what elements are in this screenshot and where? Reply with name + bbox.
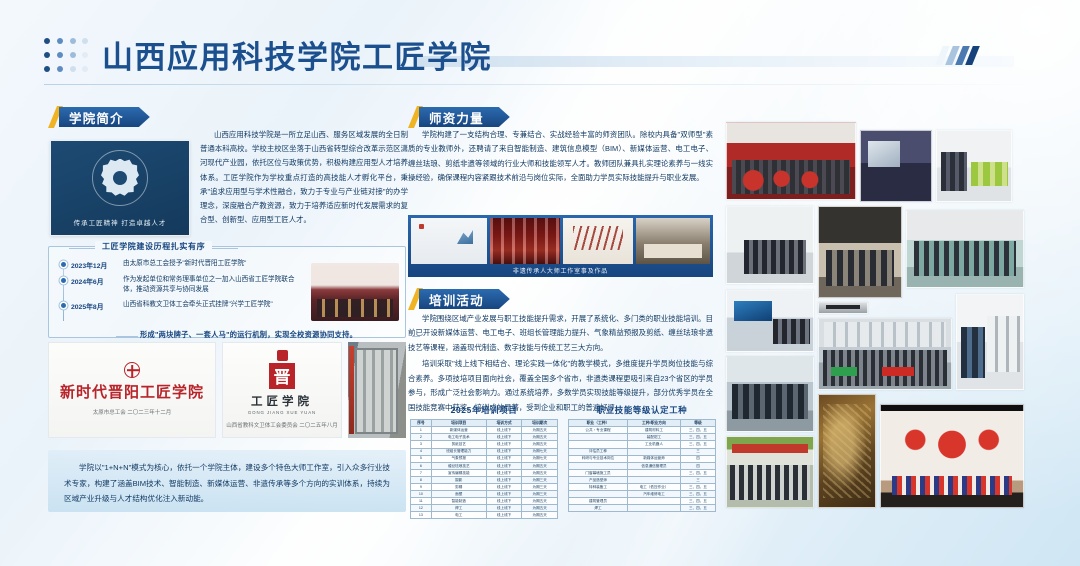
timeline-item: 2023年12月 由太原市总工会授予"新时代晋阳工匠学院" xyxy=(55,259,305,270)
table-cell: 6 xyxy=(411,462,432,469)
table-cell: 2 xyxy=(411,434,432,441)
table-cell: 三、四、五 xyxy=(680,483,715,490)
table-cell: 汽车维修电工 xyxy=(627,491,680,498)
dancers-row xyxy=(892,476,1011,494)
table-row: 汽车维修电工三、四、五 xyxy=(569,491,716,498)
section-heading-training: 培训活动 xyxy=(408,288,510,310)
table-cell: 公共・专业课程 xyxy=(569,427,628,434)
table-row: 科研与专业技术岗位新媒体运营师四 xyxy=(569,455,716,462)
training-projects-table-block: 2025年培训项目 序号培训项目培训方式培训期次 1新媒体运营线上线下为期五天2… xyxy=(410,404,558,519)
table-row: 5气象预报线上线下为期七天 xyxy=(411,455,558,462)
table-cell: 线上线下 xyxy=(486,469,522,476)
classroom-lecture-screen xyxy=(860,130,932,202)
table-row: 9剪辑线上线下为期三天 xyxy=(411,483,558,490)
table-cell: 线上线下 xyxy=(486,448,522,455)
table-cell: 剪纸技艺 xyxy=(431,441,486,448)
table-row: 信息通信管理员四 xyxy=(569,462,716,469)
table-cell: 三、四、五 xyxy=(680,427,715,434)
furniture-hall-visit xyxy=(906,210,1024,288)
plaque-title: 工匠学院 xyxy=(251,393,313,409)
page-title: 山西应用科技学院工匠学院 xyxy=(102,32,492,77)
table-cell: 三 xyxy=(680,476,715,483)
table-column-header: 培训方式 xyxy=(486,420,522,427)
table-cell: 线上线下 xyxy=(486,476,522,483)
campus-building xyxy=(824,322,945,347)
table-cell: 线上线下 xyxy=(486,483,522,490)
training-table-caption: 2025年培训项目 xyxy=(410,404,558,416)
table-row: 公共・专业课程建筑材料工三、四、五 xyxy=(569,427,716,434)
table-column-header: 职业（工种） xyxy=(569,420,628,427)
table-row: 建筑管理员三、四、五 xyxy=(569,498,716,505)
table-cell: 线上线下 xyxy=(486,498,522,505)
table-cell: 为期七天 xyxy=(522,448,558,455)
table-cell: 为期五天 xyxy=(522,441,558,448)
table-cell: 为期三天 xyxy=(522,483,558,490)
photo-mosaic xyxy=(724,116,1044,538)
training-body: 学院围绕区域产业发展与职工技能提升需求，开展了系统化、多门类的职业技能培训。目前… xyxy=(408,312,713,415)
tables-area: 2025年培训项目 序号培训项目培训方式培训期次 1新媒体运营线上线下为期五天2… xyxy=(410,404,716,519)
table-cell: 三、四、五 xyxy=(680,505,715,512)
table-cell: 9 xyxy=(411,483,432,490)
table-cell: 电工（低压作业） xyxy=(627,483,680,490)
dark-showroom-visit xyxy=(818,206,902,298)
table-cell: 3 xyxy=(411,441,432,448)
table-row: 特种装备工电工（低压作业）三、四、五 xyxy=(569,483,716,490)
table-cell: 为期三天 xyxy=(522,491,558,498)
table-row: 1新媒体运营线上线下为期五天 xyxy=(411,427,558,434)
table-column-header: 序号 xyxy=(411,420,432,427)
table-cell: 线上线下 xyxy=(486,512,522,519)
table-cell: 建筑材料工 xyxy=(627,427,680,434)
table-cell: 5 xyxy=(411,455,432,462)
table-cell: 特种装备工 xyxy=(569,483,628,490)
table-cell: 8 xyxy=(411,476,432,483)
circle-seal-icon xyxy=(124,362,140,378)
timeline-dot-icon xyxy=(55,300,71,310)
table-cell: 信息通信管理员 xyxy=(627,462,680,469)
table-column-header: 工种/职业方向 xyxy=(627,420,680,427)
table-row: 装配钳工三、四、五 xyxy=(569,434,716,441)
timeline-item: 2024年6月 作为发起单位和常务理事单位之一加入山西省工匠学院联合体，推动资源… xyxy=(55,275,305,295)
section-heading-intro: 学院简介 xyxy=(48,106,150,128)
timeline-item: 2025年8月 山西省科教文卫体工会牵头正式挂牌"兴学工匠学院" xyxy=(55,300,305,311)
table-header-row: 职业（工种）工种/职业方向等级 xyxy=(569,420,716,427)
table-cell: 线上线下 xyxy=(486,505,522,512)
table-row: 3剪纸技艺线上线下为期五天 xyxy=(411,441,558,448)
timeline-photo xyxy=(311,263,399,321)
timeline-date: 2025年8月 xyxy=(71,300,123,311)
timeline-footer-text: 形成"两块牌子、一套人马"的运行机制，实现全校资源协同支持。 xyxy=(140,330,410,340)
section-heading-faculty: 师资力量 xyxy=(408,106,510,128)
table-cell: 科研与专业技术岗位 xyxy=(569,455,628,462)
calligraphy-plaque-photo xyxy=(563,218,633,264)
table-cell: 三、四、五 xyxy=(680,441,715,448)
skill-table-caption: 职业技能等级认定工种 xyxy=(568,404,716,416)
table-cell xyxy=(569,462,628,469)
training-paragraph-1: 学院围绕区域产业发展与职工技能提升需求，开展了系统化、多门类的职业技能培训。目前… xyxy=(408,312,713,355)
red-banner xyxy=(882,367,914,377)
table-row: 工业机器人三、四、五 xyxy=(569,441,716,448)
faculty-photo-strip: 非遗传承人大师工作室事及作品 xyxy=(408,215,713,277)
red-display-corridor-photo xyxy=(490,218,560,264)
table-body: 1新媒体运营线上线下为期五天2电工电子技术线上线下为期五天3剪纸技艺线上线下为期… xyxy=(411,427,558,519)
timeline-list: 2023年12月 由太原市总工会授予"新时代晋阳工匠学院" 2024年6月 作为… xyxy=(55,259,305,316)
lacquer-artwork-closeup xyxy=(818,394,876,508)
table-cell: 为期五天 xyxy=(522,469,558,476)
table-cell: 三、四、五 xyxy=(680,491,715,498)
large-group-photo-campus-building xyxy=(818,318,952,390)
table-cell: 摄影 xyxy=(431,476,486,483)
table-cell: 线上线下 xyxy=(486,441,522,448)
table-cell: 1 xyxy=(411,427,432,434)
table-cell: 11 xyxy=(411,498,432,505)
table-cell: 三 xyxy=(680,448,715,455)
lab-tour-green-chairs xyxy=(936,130,1012,202)
presentation-blue-screen xyxy=(726,290,814,352)
exhibition-hall-walkthrough xyxy=(726,356,814,432)
table-row: 2电工电子技术线上线下为期五天 xyxy=(411,434,558,441)
table-cell: 缠丝珐琅技艺 xyxy=(431,462,486,469)
dot-grid-icon xyxy=(44,38,90,76)
table-cell: 线上线下 xyxy=(486,462,522,469)
table-body: 公共・专业课程建筑材料工三、四、五装配钳工三、四、五工业机器人三、四、五评估员工… xyxy=(569,427,716,512)
table-cell: 智能制造 xyxy=(431,498,486,505)
square-seal-icon xyxy=(277,350,288,361)
monitor-display-strip xyxy=(818,302,868,314)
training-projects-table: 序号培训项目培训方式培训期次 1新媒体运营线上线下为期五天2电工电子技术线上线下… xyxy=(410,419,558,519)
emblem-ring xyxy=(92,150,148,206)
section-label-training: 培训活动 xyxy=(429,290,484,309)
table-cell: 新媒体运营师 xyxy=(627,455,680,462)
table-cell: 剪辑 xyxy=(431,483,486,490)
header-divider xyxy=(44,84,1040,85)
table-cell xyxy=(627,469,680,476)
table-cell: 建筑管理员 xyxy=(569,498,628,505)
timeline-dot-icon xyxy=(55,259,71,269)
green-banner xyxy=(831,367,857,377)
table-cell: 四 xyxy=(680,462,715,469)
plaque-romanized: GONG JIANG XUE YUAN xyxy=(248,410,316,415)
table-cell xyxy=(627,498,680,505)
intro-body-text: 山西应用科技学院是一所立足山西、服务区域发展的全日制普通本科高校。学校主校区坐落… xyxy=(200,128,408,228)
table-row: 7宣传编辑技能线上线下为期五天 xyxy=(411,469,558,476)
table-cell xyxy=(627,505,680,512)
table-row: 焊工三、四、五 xyxy=(569,505,716,512)
table-cell: 班组长管理能力 xyxy=(431,448,486,455)
table-cell xyxy=(569,441,628,448)
table-cell: 焊工 xyxy=(431,505,486,512)
papercut-stage-performance xyxy=(880,404,1024,508)
table-cell: 为期五天 xyxy=(522,427,558,434)
table-cell: 为期五天 xyxy=(522,505,558,512)
timeline-date: 2024年6月 xyxy=(71,275,123,286)
table-cell: 新媒体运营 xyxy=(431,427,486,434)
table-cell: 线上线下 xyxy=(486,455,522,462)
table-row: 13电工线上线下为期五天 xyxy=(411,512,558,519)
table-cell: 三、四、五 xyxy=(680,434,715,441)
skill-levels-table: 职业（工种）工种/职业方向等级 公共・专业课程建筑材料工三、四、五装配钳工三、四… xyxy=(568,419,716,512)
college-emblem: 传承工匠精神 打造卓越人才 xyxy=(50,140,190,236)
table-column-header: 等级 xyxy=(680,420,715,427)
table-cell: 面塑 xyxy=(431,491,486,498)
table-header-row: 序号培训项目培训方式培训期次 xyxy=(411,420,558,427)
table-row: 产品造型师三 xyxy=(569,476,716,483)
table-cell: 三、四、五 xyxy=(680,469,715,476)
intro-note-text: 学院以"1+N+N"模式为核心，依托一个学院主体，建设多个特色大师工作室，引入众… xyxy=(64,460,390,507)
table-column-header: 培训期次 xyxy=(522,420,558,427)
table-row: 11智能制造线上线下为期五天 xyxy=(411,498,558,505)
table-cell: 装配钳工 xyxy=(627,434,680,441)
workshop-interior-photo xyxy=(636,218,710,264)
table-column-header: 培训项目 xyxy=(431,420,486,427)
diagonal-slash-icon xyxy=(935,46,980,65)
table-cell: 7 xyxy=(411,469,432,476)
table-cell: 评估员工种 xyxy=(569,448,628,455)
corridor-visit-group xyxy=(726,206,814,284)
timeline-desc: 山西省科教文卫体工会牵头正式挂牌"兴学工匠学院" xyxy=(123,300,305,310)
table-cell: 电工电子技术 xyxy=(431,434,486,441)
table-cell: 产品造型师 xyxy=(569,476,628,483)
plaque-jinyang: 新时代晋阳工匠学院 太原市总工会 二〇二三年十二月 xyxy=(48,342,216,438)
plaque-badge: 晋 xyxy=(269,363,295,389)
table-cell xyxy=(627,476,680,483)
table-cell: 为期五天 xyxy=(522,462,558,469)
timeline-desc: 由太原市总工会授予"新时代晋阳工匠学院" xyxy=(123,259,305,269)
faculty-body-text: 学院构建了一支结构合理、专兼结合、实战经验丰富的师资团队。除校内具备"双师型"素… xyxy=(408,128,713,186)
electrical-lab-demonstration xyxy=(956,294,1024,390)
table-cell: 为期七天 xyxy=(522,455,558,462)
table-cell: 13 xyxy=(411,512,432,519)
plaque-title: 新时代晋阳工匠学院 xyxy=(60,381,204,402)
section-label-intro: 学院简介 xyxy=(69,108,124,127)
intro-note-panel: 学院以"1+N+N"模式为核心，依托一个学院主体，建设多个特色大师工作室，引入众… xyxy=(48,450,406,512)
table-cell: 为期五天 xyxy=(522,512,558,519)
table-cell: 门窗幕墙施工员 xyxy=(569,469,628,476)
title-underline-bar xyxy=(414,56,1014,67)
gear-compass-emblem-icon xyxy=(101,159,139,197)
skill-levels-table-block: 职业技能等级认定工种 职业（工种）工种/职业方向等级 公共・专业课程建筑材料工三… xyxy=(568,404,716,519)
table-cell: 线上线下 xyxy=(486,491,522,498)
table-cell: 4 xyxy=(411,448,432,455)
group-photo-with-red-fans xyxy=(726,122,856,200)
timeline-panel: 工匠学院建设历程扎实有序 2023年12月 由太原市总工会授予"新时代晋阳工匠学… xyxy=(48,246,406,338)
table-cell: 四 xyxy=(680,455,715,462)
papercut-backdrop xyxy=(898,415,1006,474)
plaque-subtitle: 太原市总工会 二〇二三年十二月 xyxy=(93,409,172,417)
timeline-title: 工匠学院建设历程扎实有序 xyxy=(95,241,212,252)
timeline-dot-icon xyxy=(55,275,71,285)
plaque-gallery: 新时代晋阳工匠学院 太原市总工会 二〇二三年十二月 晋 工匠学院 GONG JI… xyxy=(48,342,406,438)
table-cell: 宣传编辑技能 xyxy=(431,469,486,476)
table-cell: 12 xyxy=(411,505,432,512)
table-cell xyxy=(569,434,628,441)
gate-door xyxy=(355,348,398,434)
table-row: 评估员工种三 xyxy=(569,448,716,455)
wall-certificate-photo xyxy=(411,218,487,264)
table-cell xyxy=(569,491,628,498)
table-row: 10面塑线上线下为期三天 xyxy=(411,491,558,498)
faculty-strip-caption: 非遗传承人大师工作室事及作品 xyxy=(411,264,710,277)
table-cell: 线上线下 xyxy=(486,427,522,434)
timeline-desc: 作为发起单位和常务理事单位之一加入山西省工匠学院联合体，推动资源共享与协同发展 xyxy=(123,275,305,295)
plaque-gate-photo xyxy=(348,342,406,438)
table-cell: 为期三天 xyxy=(522,476,558,483)
plaque-gongjiang: 晋 工匠学院 GONG JIANG XUE YUAN 山西省教科文卫体工会委员会… xyxy=(222,342,342,438)
table-cell: 为期五天 xyxy=(522,498,558,505)
timeline-date: 2023年12月 xyxy=(71,259,123,270)
table-cell xyxy=(627,448,680,455)
table-cell: 三、四、五 xyxy=(680,498,715,505)
gate-side-banner xyxy=(349,346,354,434)
table-cell: 10 xyxy=(411,491,432,498)
table-cell: 焊工 xyxy=(569,505,628,512)
table-row: 12焊工线上线下为期五天 xyxy=(411,505,558,512)
table-cell: 为期五天 xyxy=(522,434,558,441)
table-row: 8摄影线上线下为期三天 xyxy=(411,476,558,483)
table-cell: 气象预报 xyxy=(431,455,486,462)
table-row: 门窗幕墙施工员三、四、五 xyxy=(569,469,716,476)
table-cell: 工业机器人 xyxy=(627,441,680,448)
table-cell: 电工 xyxy=(431,512,486,519)
table-cell: 线上线下 xyxy=(486,434,522,441)
section-label-faculty: 师资力量 xyxy=(429,108,484,127)
table-row: 4班组长管理能力线上线下为期七天 xyxy=(411,448,558,455)
emblem-slogan: 传承工匠精神 打造卓越人才 xyxy=(74,217,167,227)
table-row: 6缠丝珐琅技艺线上线下为期五天 xyxy=(411,462,558,469)
poster-canvas: 山西应用科技学院工匠学院 学院简介 传承工匠精神 打造卓越人才 山西应用科技学院… xyxy=(0,0,1080,566)
poster-header: 山西应用科技学院工匠学院 xyxy=(44,34,1040,86)
outdoor-banner-group-photo xyxy=(726,436,814,508)
plaque-subtitle: 山西省教科文卫体工会委员会 二〇二五年八月 xyxy=(226,422,338,430)
